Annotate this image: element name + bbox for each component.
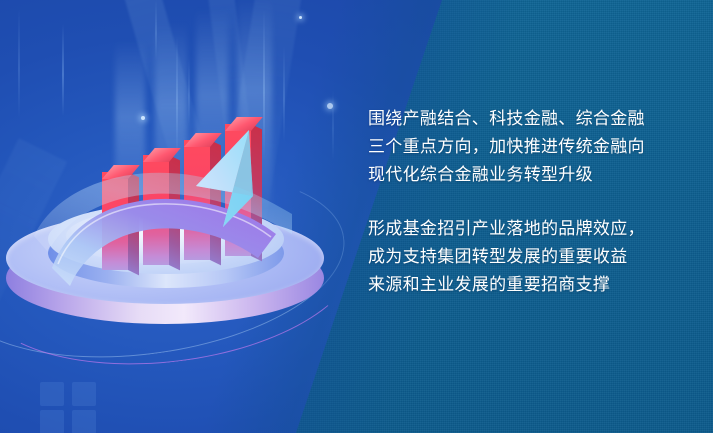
paragraph-2-line-1: 形成基金招引产业落地的品牌效应， <box>368 215 688 243</box>
paragraph-1-line-3: 现代化综合金融业务转型升级 <box>368 161 688 189</box>
growth-arrow-icon <box>0 0 360 433</box>
paragraph-2-line-3: 来源和主业发展的重要招商支撑 <box>368 271 688 299</box>
text-column: 围绕产融结合、科技金融、综合金融 三个重点方向，加快推进传统金融向 现代化综合金… <box>368 105 688 299</box>
growth-chart-illustration <box>0 0 360 433</box>
paragraph-1-line-2: 三个重点方向，加快推进传统金融向 <box>368 133 688 161</box>
paragraph-2: 形成基金招引产业落地的品牌效应， 成为支持集团转型发展的重要收益 来源和主业发展… <box>368 215 688 299</box>
slide-canvas: 围绕产融结合、科技金融、综合金融 三个重点方向，加快推进传统金融向 现代化综合金… <box>0 0 713 433</box>
paragraph-2-line-2: 成为支持集团转型发展的重要收益 <box>368 243 688 271</box>
paragraph-1: 围绕产融结合、科技金融、综合金融 三个重点方向，加快推进传统金融向 现代化综合金… <box>368 105 688 189</box>
paragraph-1-line-1: 围绕产融结合、科技金融、综合金融 <box>368 105 688 133</box>
